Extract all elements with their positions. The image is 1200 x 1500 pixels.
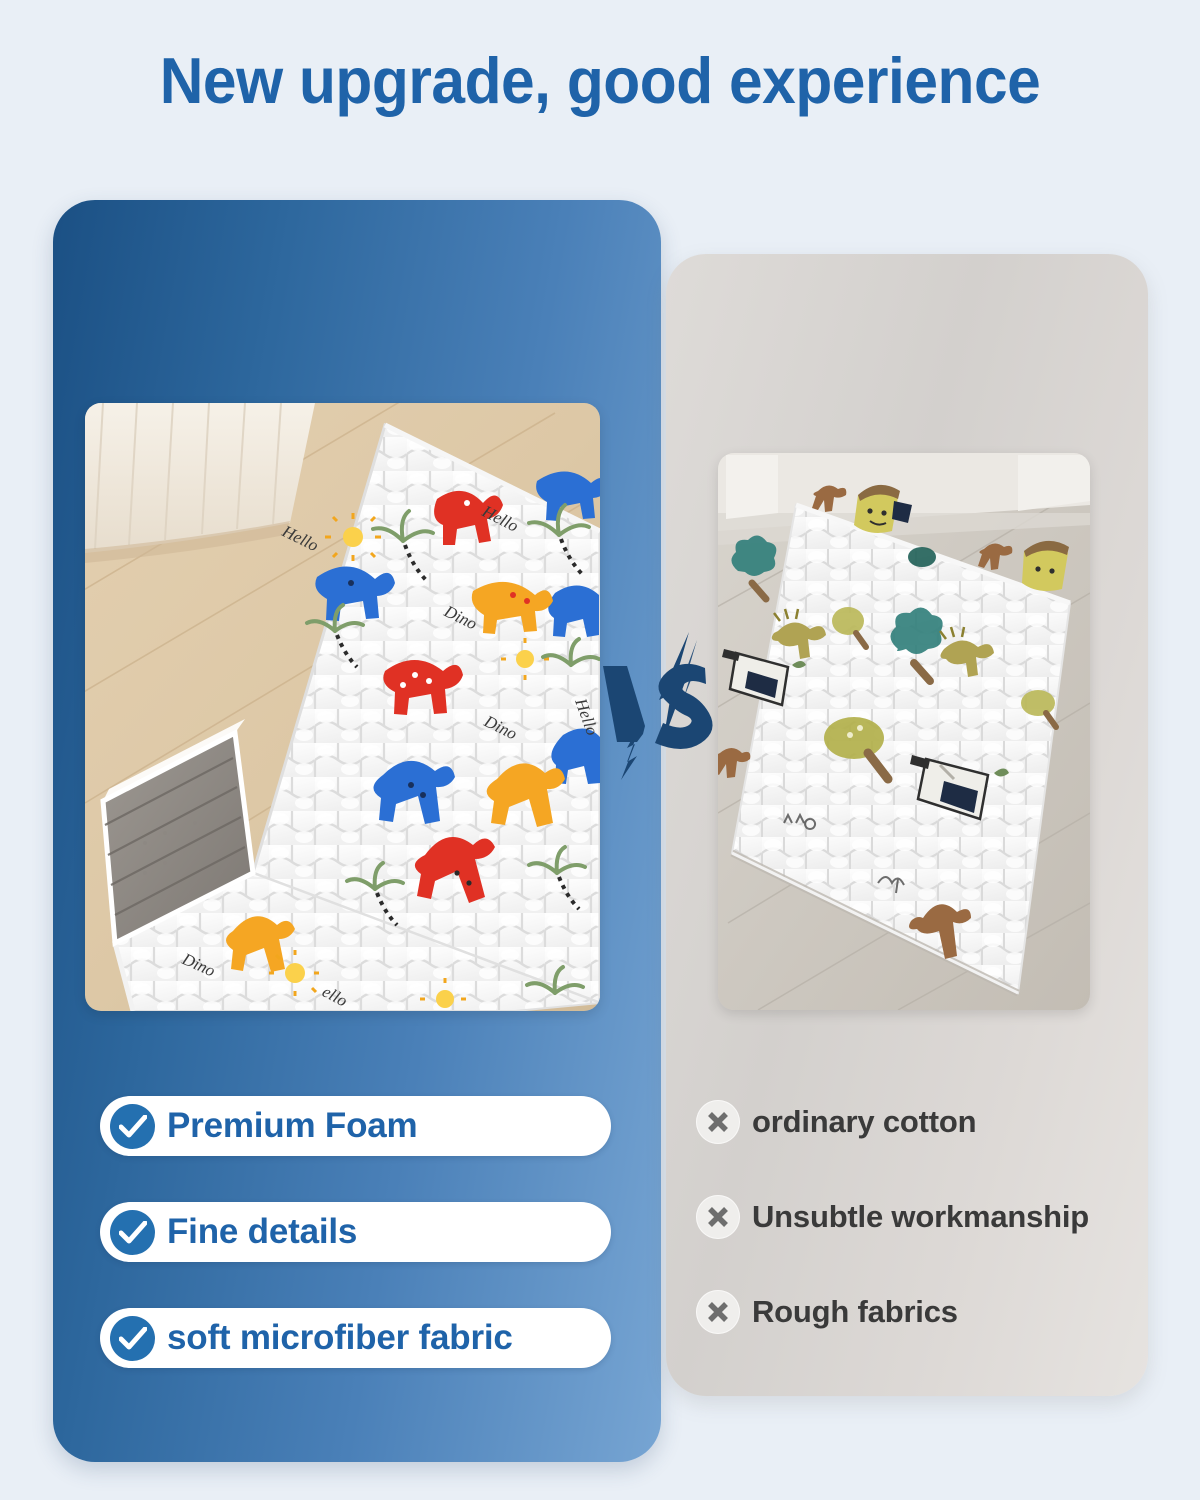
x-circle-icon <box>696 1290 740 1334</box>
drawback-row[interactable]: ordinary cotton <box>696 1098 1156 1146</box>
feature-pill[interactable]: Fine details <box>100 1202 611 1262</box>
x-circle-icon <box>696 1195 740 1239</box>
feature-label: Premium Foam <box>167 1106 417 1146</box>
ours-feature-list: Premium Foam Fine details soft microfibe… <box>100 1096 620 1368</box>
x-circle-icon <box>696 1100 740 1144</box>
drawback-row[interactable]: Unsubtle workmanship <box>696 1193 1156 1241</box>
others-drawback-list: ordinary cotton Unsubtle workmanship Rou… <box>696 1098 1156 1336</box>
check-circle-icon <box>110 1316 155 1361</box>
page-title: New upgrade, good experience <box>42 48 1158 113</box>
check-circle-icon <box>110 1104 155 1149</box>
check-circle-icon <box>110 1210 155 1255</box>
drawback-label: Unsubtle workmanship <box>752 1199 1089 1235</box>
vs-divider-badge <box>597 630 723 782</box>
comparison-infographic: New upgrade, good experience Ours <box>0 0 1200 1500</box>
ours-product-photo: Hello Hello Dino Dino Hello Dino ello <box>85 403 600 1011</box>
feature-label: soft microfiber fabric <box>167 1318 513 1358</box>
drawback-label: Rough fabrics <box>752 1294 958 1330</box>
feature-pill[interactable]: Premium Foam <box>100 1096 611 1156</box>
others-product-photo <box>718 453 1090 1010</box>
drawback-label: ordinary cotton <box>752 1104 976 1140</box>
feature-pill[interactable]: soft microfiber fabric <box>100 1308 611 1368</box>
drawback-row[interactable]: Rough fabrics <box>696 1288 1156 1336</box>
feature-label: Fine details <box>167 1212 357 1252</box>
